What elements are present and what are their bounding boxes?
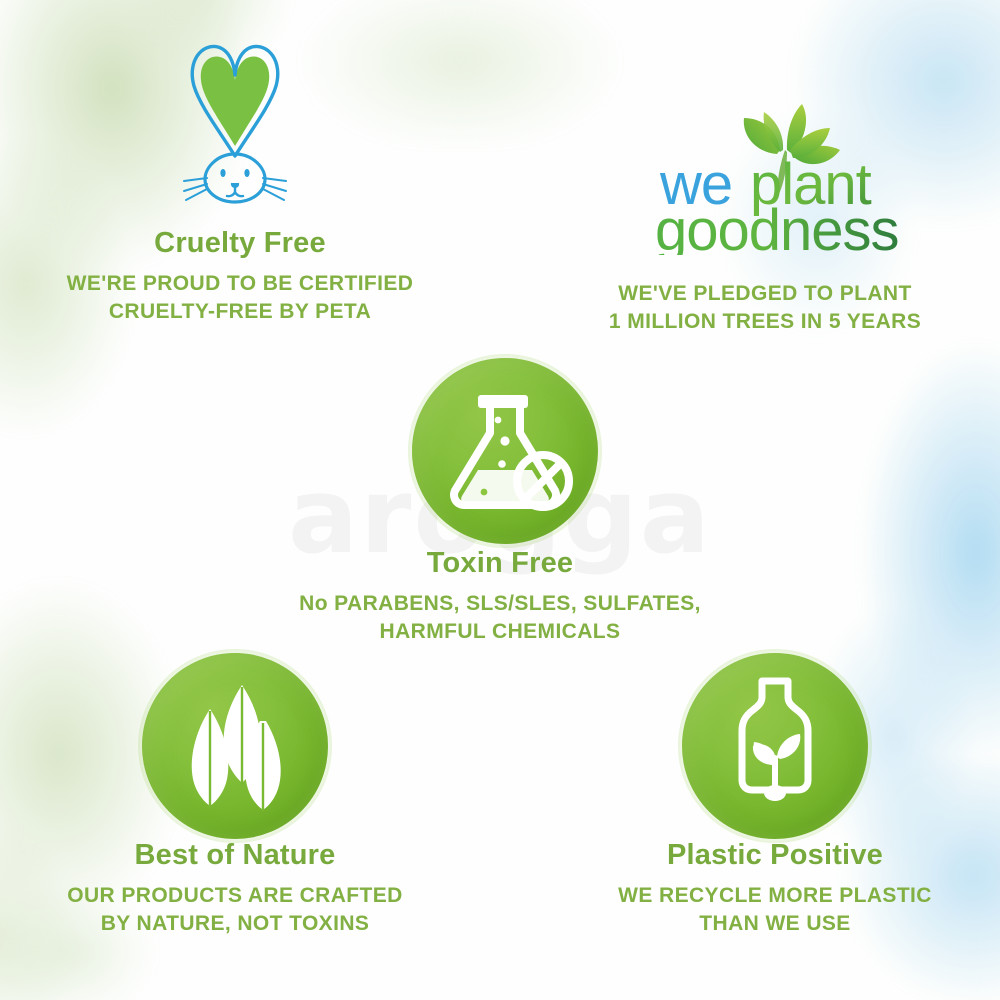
badge-subtitle-line: HARMFUL CHEMICALS (380, 620, 621, 643)
badge-title: Cruelty Free (20, 228, 460, 260)
badge-title: Best of Nature (25, 840, 445, 872)
toxin-free-badge-circle (412, 358, 598, 544)
badge-cruelty-free: Cruelty Free WE'RE PROUD TO BE CERTIFIED… (20, 228, 460, 325)
flask-no-toxin-icon (412, 358, 598, 544)
badge-subtitle: WE'VE PLEDGED TO PLANT 1 MILLION TREES I… (545, 280, 985, 335)
badge-subtitle-line: THAN WE USE (699, 912, 850, 935)
we-plant-goodness-logo: we plant goodness (650, 100, 950, 255)
badge-subtitle: No PARABENS, SLS/SLES, SULFATES, HARMFUL… (265, 590, 735, 645)
best-of-nature-badge-circle (142, 653, 328, 839)
badge-subtitle-line: BY NATURE, NOT TOXINS (101, 912, 370, 935)
badge-subtitle-line: CRUELTY-FREE BY PETA (109, 300, 371, 323)
badge-subtitle-line: OUR PRODUCTS ARE CRAFTED (67, 884, 403, 907)
badge-plastic-positive: Plastic Positive WE RECYCLE MORE PLASTIC… (565, 840, 985, 937)
badge-title: Plastic Positive (565, 840, 985, 872)
badge-subtitle: OUR PRODUCTS ARE CRAFTED BY NATURE, NOT … (25, 882, 445, 937)
badge-toxin-free: Toxin Free No PARABENS, SLS/SLES, SULFAT… (265, 548, 735, 645)
three-leaves-icon (142, 653, 328, 839)
svg-text:goodness: goodness (655, 198, 899, 255)
peta-bunny-heart-icon (160, 28, 310, 208)
badge-subtitle-line: WE'RE PROUD TO BE CERTIFIED (67, 272, 414, 295)
badge-best-of-nature: Best of Nature OUR PRODUCTS ARE CRAFTED … (25, 840, 445, 937)
badge-subtitle-line: WE RECYCLE MORE PLASTIC (618, 884, 932, 907)
watercolor-wash-green-top (250, 0, 670, 140)
bottle-sprout-icon (682, 653, 868, 839)
plastic-positive-badge-circle (682, 653, 868, 839)
badge-subtitle-line: No PARABENS, SLS/SLES, SULFATES, (299, 592, 701, 615)
badge-subtitle-line: 1 MILLION TREES IN 5 YEARS (609, 310, 921, 333)
badge-subtitle-line: WE'VE PLEDGED TO PLANT (618, 282, 911, 305)
badge-we-plant-goodness: WE'VE PLEDGED TO PLANT 1 MILLION TREES I… (545, 280, 985, 335)
badge-subtitle: WE'RE PROUD TO BE CERTIFIED CRUELTY-FREE… (20, 270, 460, 325)
badge-title: Toxin Free (265, 548, 735, 580)
badge-subtitle: WE RECYCLE MORE PLASTIC THAN WE USE (565, 882, 985, 937)
infographic-canvas: arogga Cruelty Free WE'RE PROUD TO BE CE… (0, 0, 1000, 1000)
